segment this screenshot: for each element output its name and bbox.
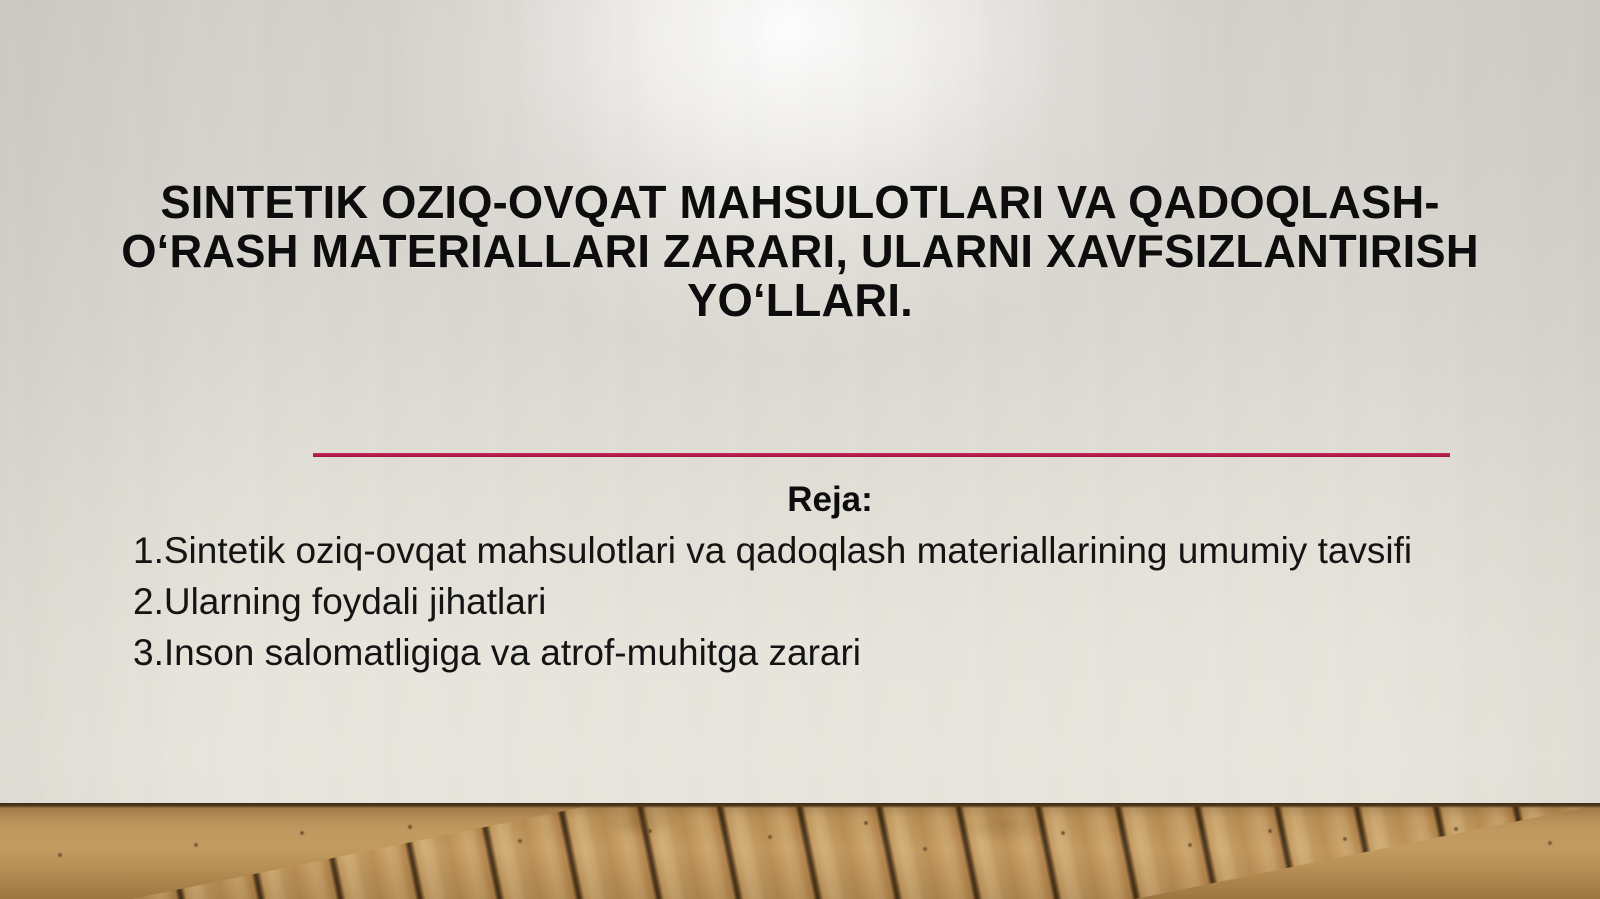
- slide-title-line-2: O‘RASH MATERIALLARI ZARARI, ULARNI XAVFS…: [47, 227, 1552, 276]
- agenda-heading: Reja:: [130, 478, 1530, 522]
- slide-title-line-1: SINTETIK OZIQ-OVQAT MAHSULOTLARI VA QADO…: [47, 178, 1552, 227]
- agenda-list: 1.Sintetik oziq-ovqat mahsulotlari va qa…: [133, 525, 1513, 678]
- slide-title: SINTETIK OZIQ-OVQAT MAHSULOTLARI VA QADO…: [36, 178, 1564, 325]
- presentation-slide: SINTETIK OZIQ-OVQAT MAHSULOTLARI VA QADO…: [0, 0, 1600, 899]
- slide-title-line-3: YO‘LLARI.: [47, 276, 1552, 325]
- agenda-list-item: 3.Inson salomatligiga va atrof-muhitga z…: [133, 627, 1513, 678]
- accent-divider-rule: [313, 453, 1450, 457]
- slide-content: SINTETIK OZIQ-OVQAT MAHSULOTLARI VA QADO…: [0, 0, 1600, 899]
- agenda-list-item: 2.Ularning foydali jihatlari: [133, 576, 1513, 627]
- agenda-list-item: 1.Sintetik oziq-ovqat mahsulotlari va qa…: [133, 525, 1513, 576]
